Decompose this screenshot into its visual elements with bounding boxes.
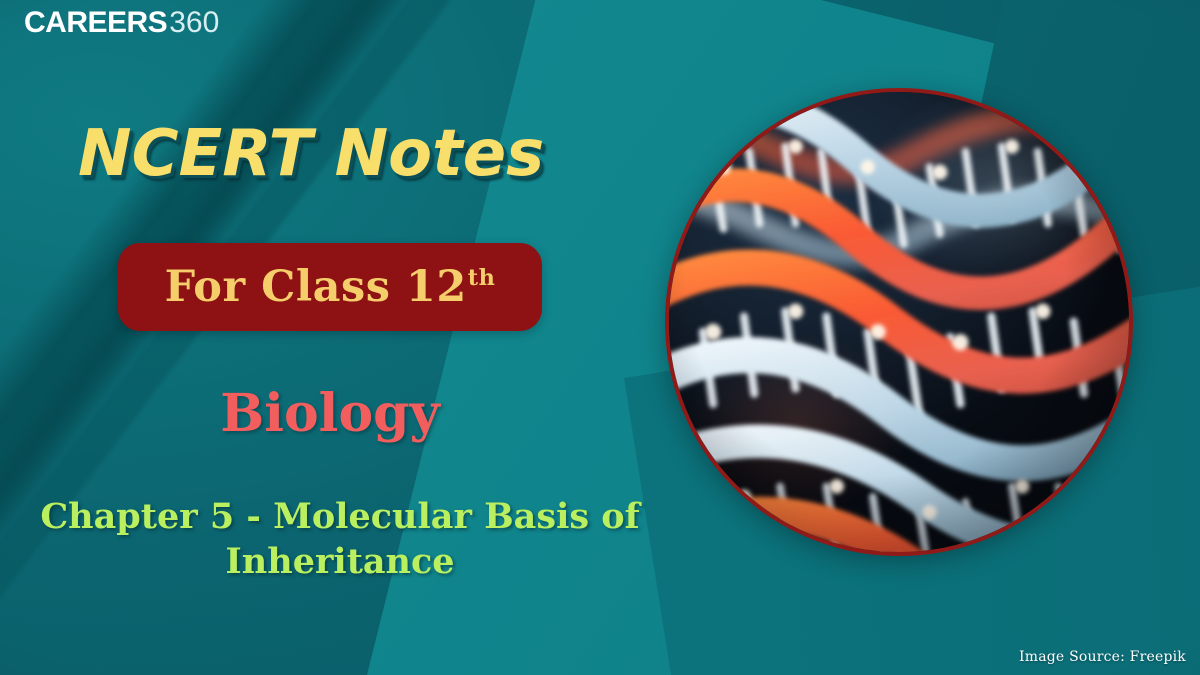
chapter-title: Chapter 5 - Molecular Basis of Inheritan… xyxy=(40,495,640,585)
class-badge-prefix: For Class 12 xyxy=(165,262,467,312)
image-source-credit: Image Source: Freepik xyxy=(1019,649,1186,665)
logo-primary-text: CAREERS xyxy=(24,8,167,38)
dna-helix-image xyxy=(665,88,1133,556)
dna-helix-icon xyxy=(665,88,1133,556)
class-badge-label: For Class 12th xyxy=(165,266,496,309)
subject-title: Biology xyxy=(0,388,660,440)
careers360-logo[interactable]: CAREERS 360 xyxy=(24,8,219,38)
poster-canvas: CAREERS 360 xyxy=(0,0,1200,675)
class-badge-ordinal-suffix: th xyxy=(468,265,496,291)
logo-secondary-text: 360 xyxy=(169,8,219,38)
class-badge: For Class 12th xyxy=(118,243,542,331)
chapter-title-line-2: Inheritance xyxy=(225,541,454,582)
page-title: NCERT Notes xyxy=(78,122,544,186)
chapter-title-line-1: Chapter 5 - Molecular Basis of xyxy=(40,496,639,537)
